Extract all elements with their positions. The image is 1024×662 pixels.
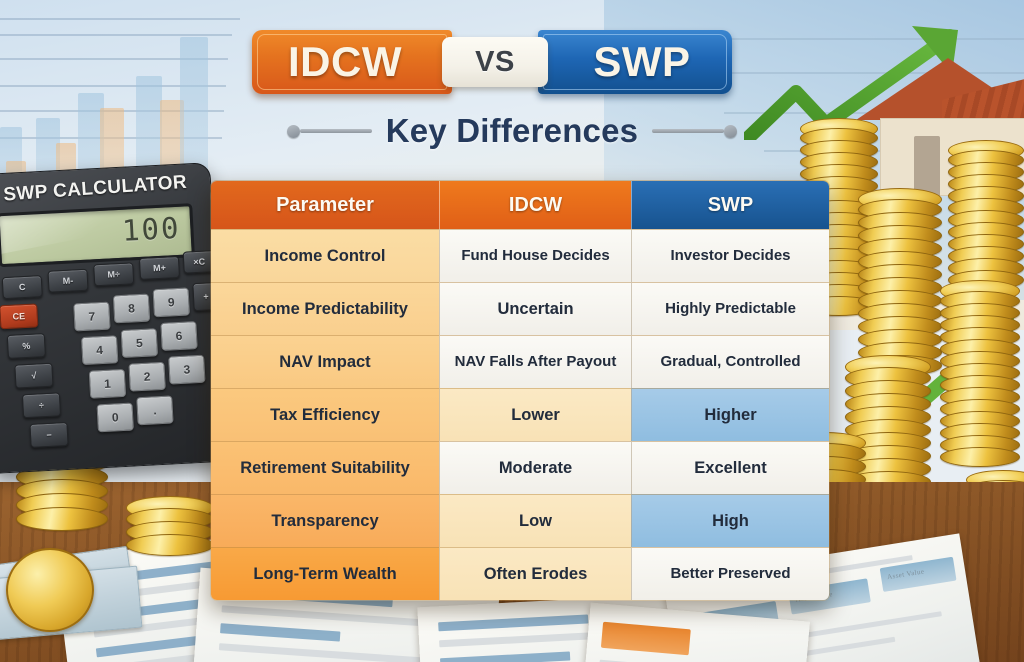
cell-parameter: Transparency bbox=[211, 494, 439, 547]
calculator-key-memory-minus[interactable]: M- bbox=[47, 269, 88, 293]
cell-idcw: Often Erodes bbox=[439, 547, 631, 600]
calculator-key-3[interactable]: 3 bbox=[168, 355, 205, 385]
cell-idcw: NAV Falls After Payout bbox=[439, 335, 631, 388]
cell-idcw: Moderate bbox=[439, 441, 631, 494]
table-row: TransparencyLowHigh bbox=[211, 494, 829, 547]
calculator-key-2[interactable]: 2 bbox=[128, 362, 165, 392]
calculator-key-9[interactable]: 9 bbox=[153, 287, 190, 317]
swp-calculator[interactable]: SWP CALCULATOR 100 C M- M÷ M+ ×C CE % √ … bbox=[0, 162, 226, 474]
cell-parameter: NAV Impact bbox=[211, 335, 439, 388]
cell-parameter: Income Predictability bbox=[211, 282, 439, 335]
column-header-swp: SWP bbox=[631, 181, 829, 229]
calculator-key-6[interactable]: 6 bbox=[160, 321, 197, 351]
cell-swp: Investor Decides bbox=[631, 229, 829, 282]
cell-idcw: Uncertain bbox=[439, 282, 631, 335]
cell-parameter: Long-Term Wealth bbox=[211, 547, 439, 600]
table-row: Income PredictabilityUncertainHighly Pre… bbox=[211, 282, 829, 335]
calculator-key-memory-plus[interactable]: M+ bbox=[139, 256, 180, 280]
cell-swp: Highly Predictable bbox=[631, 282, 829, 335]
calculator-key-clear[interactable]: C bbox=[2, 275, 43, 299]
title-badge-row: IDCW VS SWP bbox=[252, 30, 732, 94]
gold-coin bbox=[6, 548, 94, 632]
cell-idcw: Lower bbox=[439, 388, 631, 441]
pin-bar bbox=[300, 129, 372, 133]
column-header-idcw: IDCW bbox=[439, 181, 631, 229]
pin-bar bbox=[652, 129, 724, 133]
vs-badge: VS bbox=[442, 37, 548, 87]
calculator-key-minus[interactable]: − bbox=[29, 422, 68, 448]
divider-right bbox=[652, 125, 737, 138]
cell-idcw: Low bbox=[439, 494, 631, 547]
table-header-row: Parameter IDCW SWP bbox=[211, 181, 829, 229]
idcw-badge: IDCW bbox=[252, 30, 452, 94]
calculator-key-divide[interactable]: ÷ bbox=[22, 392, 61, 418]
table-body: Income ControlFund House DecidesInvestor… bbox=[211, 229, 829, 600]
cell-idcw: Fund House Decides bbox=[439, 229, 631, 282]
cell-parameter: Retirement Suitability bbox=[211, 441, 439, 494]
calculator-key-dot[interactable]: . bbox=[136, 395, 173, 425]
divider-left bbox=[287, 125, 372, 138]
calculator-display-value: 100 bbox=[121, 211, 181, 248]
pin-dot-icon bbox=[724, 125, 737, 138]
column-header-parameter: Parameter bbox=[211, 181, 439, 229]
calculator-key-1[interactable]: 1 bbox=[89, 369, 126, 399]
cell-swp: Better Preserved bbox=[631, 547, 829, 600]
cell-swp: Excellent bbox=[631, 441, 829, 494]
cell-parameter: Tax Efficiency bbox=[211, 388, 439, 441]
calculator-key-8[interactable]: 8 bbox=[113, 294, 150, 324]
calculator-key-5[interactable]: 5 bbox=[121, 328, 158, 358]
table-row: Income ControlFund House DecidesInvestor… bbox=[211, 229, 829, 282]
cell-swp: High bbox=[631, 494, 829, 547]
calculator-key-0[interactable]: 0 bbox=[97, 403, 134, 433]
comparison-table: Parameter IDCW SWP Income ControlFund Ho… bbox=[210, 180, 830, 601]
calculator-key-memory-recall[interactable]: M÷ bbox=[93, 262, 134, 286]
calculator-key-ce[interactable]: CE bbox=[0, 303, 38, 329]
cell-swp: Higher bbox=[631, 388, 829, 441]
table-row: Retirement SuitabilityModerateExcellent bbox=[211, 441, 829, 494]
pin-dot-icon bbox=[287, 125, 300, 138]
swp-badge: SWP bbox=[538, 30, 732, 94]
calculator-key-root[interactable]: √ bbox=[14, 363, 53, 389]
calculator-key-4[interactable]: 4 bbox=[81, 335, 118, 365]
subtitle-row: Key Differences bbox=[0, 112, 1024, 150]
table-row: Tax EfficiencyLowerHigher bbox=[211, 388, 829, 441]
table-row: NAV ImpactNAV Falls After PayoutGradual,… bbox=[211, 335, 829, 388]
cell-parameter: Income Control bbox=[211, 229, 439, 282]
table-row: Long-Term WealthOften ErodesBetter Prese… bbox=[211, 547, 829, 600]
calculator-key-percent[interactable]: % bbox=[7, 333, 46, 359]
page-title: Key Differences bbox=[386, 112, 638, 150]
cell-swp: Gradual, Controlled bbox=[631, 335, 829, 388]
calculator-key-7[interactable]: 7 bbox=[73, 302, 110, 332]
